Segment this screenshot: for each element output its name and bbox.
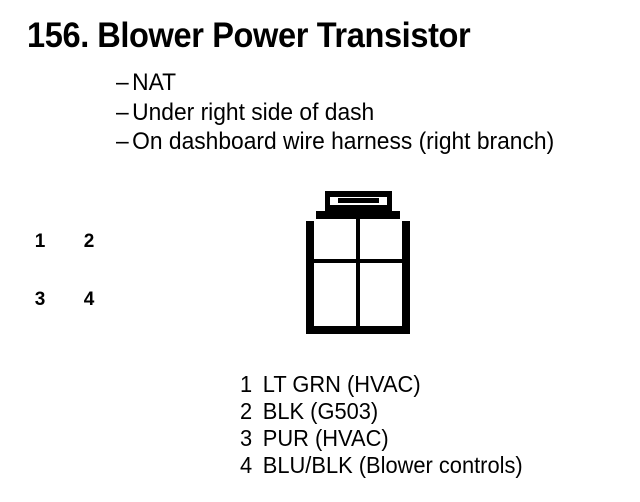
- description-item-1-text: NAT: [132, 68, 176, 98]
- pin-number-4: 4: [79, 290, 99, 310]
- pin-legend-wire-4: BLU/BLK (Blower controls): [263, 452, 523, 479]
- connector-diagram: [296, 191, 420, 334]
- description-item-3: –On dashboard wire harness (right branch…: [116, 127, 554, 157]
- pin-legend-number-1: 1: [240, 371, 263, 398]
- pin-number-1: 1: [30, 232, 50, 252]
- pin-legend-row-4: 4BLU/BLK (Blower controls): [240, 452, 523, 479]
- description-item-2-text: Under right side of dash: [132, 98, 374, 128]
- description-item-1: –NAT: [116, 68, 554, 98]
- description-list: –NAT –Under right side of dash –On dashb…: [116, 68, 554, 157]
- pin-legend-wire-3: PUR (HVAC): [263, 425, 389, 452]
- pin-legend: 1LT GRN (HVAC) 2BLK (G503) 3PUR (HVAC) 4…: [240, 371, 523, 479]
- pin-number-2: 2: [79, 232, 99, 252]
- page-title-number: 156.: [27, 16, 89, 55]
- cavity-3: [314, 263, 356, 326]
- pin-legend-number-3: 3: [240, 425, 263, 452]
- pin-legend-wire-2: BLK (G503): [263, 398, 378, 425]
- dash-icon: –: [116, 98, 132, 128]
- description-item-2: –Under right side of dash: [116, 98, 554, 128]
- pin-number-3: 3: [30, 290, 50, 310]
- shoulder-notch-left: [306, 211, 316, 221]
- dash-icon: –: [116, 127, 132, 157]
- pin-legend-wire-1: LT GRN (HVAC): [263, 371, 421, 398]
- latch-tab-slot: [338, 198, 379, 203]
- cavity-2: [360, 219, 402, 259]
- pin-legend-row-3: 3PUR (HVAC): [240, 425, 523, 452]
- page-title-text: Blower Power Transistor: [97, 16, 470, 55]
- cavity-4: [360, 263, 402, 326]
- pin-legend-number-2: 2: [240, 398, 263, 425]
- diagram-page: 156.Blower Power Transistor –NAT –Under …: [0, 0, 640, 502]
- cavity-1: [314, 219, 356, 259]
- pin-legend-row-2: 2BLK (G503): [240, 398, 523, 425]
- page-title: 156.Blower Power Transistor: [27, 16, 470, 56]
- pin-legend-row-1: 1LT GRN (HVAC): [240, 371, 523, 398]
- pin-legend-number-4: 4: [240, 452, 263, 479]
- description-item-3-text: On dashboard wire harness (right branch): [132, 127, 554, 157]
- shoulder-notch-right: [400, 211, 410, 221]
- dash-icon: –: [116, 68, 132, 98]
